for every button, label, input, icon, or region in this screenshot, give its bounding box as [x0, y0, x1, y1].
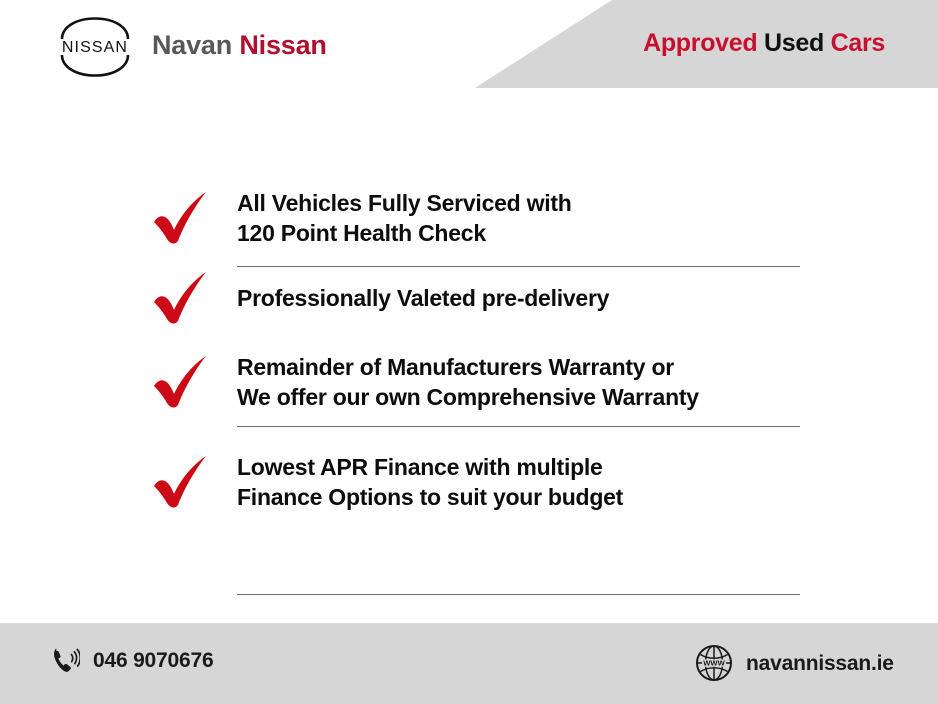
feature-text-1: All Vehicles Fully Serviced with 120 Poi…: [237, 188, 572, 249]
feature-text-1-line1: All Vehicles Fully Serviced with: [237, 188, 572, 218]
feature-text-4-line2: Finance Options to suit your budget: [237, 482, 623, 512]
check-cell-3: [0, 353, 237, 411]
footer: 046 9070676 WWW navannissan.ie: [0, 623, 938, 704]
approved-used-cars-title: Approved Used Cars: [643, 31, 885, 56]
banner-word-used: Used: [764, 29, 824, 57]
phone-number: 046 9070676: [93, 650, 213, 671]
feature-item-3: Remainder of Manufacturers Warranty or W…: [0, 330, 938, 434]
banner-word-cars: Cars: [831, 29, 885, 57]
feature-divider-3: [237, 594, 800, 595]
banner-word-approved: Approved: [643, 29, 757, 57]
feature-text-2: Professionally Valeted pre-delivery: [237, 283, 609, 313]
feature-text-1-line2: 120 Point Health Check: [237, 218, 572, 248]
phone-ringing-icon: [52, 645, 80, 675]
promotional-slide: NISSAN Navan Nissan Approved Used Cars A…: [0, 0, 938, 704]
red-check-icon: [150, 189, 212, 247]
red-check-icon: [150, 453, 212, 511]
header: NISSAN Navan Nissan Approved Used Cars: [0, 0, 938, 90]
footer-phone-block[interactable]: 046 9070676: [52, 645, 213, 675]
feature-text-4: Lowest APR Finance with multiple Finance…: [237, 452, 623, 513]
globe-www-icon: WWW: [694, 643, 734, 683]
feature-text-2-line1: Professionally Valeted pre-delivery: [237, 283, 609, 313]
red-check-icon: [150, 353, 212, 411]
globe-www-label: WWW: [703, 659, 725, 668]
brand-name-nissan: Nissan: [239, 30, 326, 60]
check-cell-4: [0, 453, 237, 511]
brand-lockup: NISSAN Navan Nissan: [52, 16, 327, 76]
feature-text-3-line2: We offer our own Comprehensive Warranty: [237, 382, 699, 412]
footer-website-block[interactable]: WWW navannissan.ie: [694, 643, 894, 683]
feature-item-1: All Vehicles Fully Serviced with 120 Poi…: [0, 170, 938, 266]
feature-item-4: Lowest APR Finance with multiple Finance…: [0, 434, 938, 530]
feature-text-4-line1: Lowest APR Finance with multiple: [237, 452, 623, 482]
brand-wordmark: Navan Nissan: [152, 32, 327, 61]
check-cell-2: [0, 269, 237, 327]
feature-text-3: Remainder of Manufacturers Warranty or W…: [237, 352, 699, 413]
check-cell-1: [0, 189, 237, 247]
website-url: navannissan.ie: [746, 653, 894, 674]
svg-text:NISSAN: NISSAN: [62, 39, 128, 56]
feature-item-2: Professionally Valeted pre-delivery: [0, 266, 938, 330]
red-check-icon: [150, 269, 212, 327]
brand-name-navan: Navan: [152, 30, 232, 60]
feature-list: All Vehicles Fully Serviced with 120 Poi…: [0, 170, 938, 530]
feature-text-3-line1: Remainder of Manufacturers Warranty or: [237, 352, 699, 382]
nissan-logo-icon: NISSAN: [52, 15, 138, 77]
